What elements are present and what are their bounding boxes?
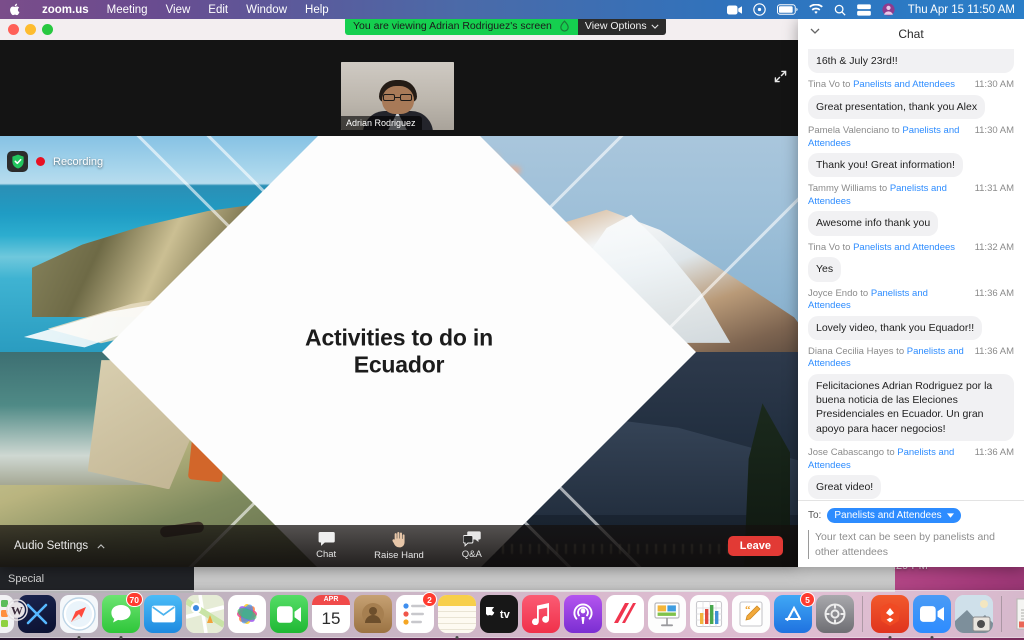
presentation-slide: Activities to do in Ecuador Recording [0, 136, 798, 567]
dock-item-system-preferences[interactable] [816, 595, 854, 633]
dock-item-safari[interactable] [60, 595, 98, 633]
chat-recipient-dropdown[interactable]: Panelists and Attendees [827, 508, 960, 523]
menu-item-help[interactable]: Help [296, 4, 338, 16]
menu-item-view[interactable]: View [157, 4, 200, 16]
chat-recipient-row: To: Panelists and Attendees [808, 508, 1014, 523]
dock-item-mail[interactable] [144, 595, 182, 633]
chat-bubble: Awesome info thank you [808, 211, 938, 235]
user-avatar-icon[interactable] [882, 3, 895, 16]
wordpress-logo-icon[interactable]: W [6, 599, 28, 626]
viewing-screen-banner: You are viewing Adrian Rodriguez's scree… [345, 17, 666, 35]
menu-item-meeting[interactable]: Meeting [98, 4, 157, 16]
chat-composer: To: Panelists and Attendees Your text ca… [798, 500, 1024, 567]
server-icon[interactable] [857, 4, 871, 16]
appstore-badge: 5 [800, 592, 815, 607]
toolbar-center-buttons: Chat Raise Hand Q&A [302, 531, 496, 561]
chat-sender: Joyce Endo to Panelists and Attendees [808, 288, 971, 313]
chat-bubble: Great presentation, thank you Alex [808, 95, 985, 119]
chat-sender: Tina Vo to Panelists and Attendees [808, 242, 971, 255]
chat-bubble: Felicitaciones Adrian Rodriguez por la b… [808, 374, 1014, 441]
qa-button-label: Q&A [462, 549, 482, 560]
dock-item-pages[interactable]: “ [732, 595, 770, 633]
chat-bubble: Thank you! Great information! [808, 153, 963, 177]
dock-item-appstore[interactable]: 5 [774, 595, 812, 633]
view-options-label: View Options [585, 20, 647, 32]
chat-message: Tina Vo to Panelists and Attendees 11:32… [808, 242, 1014, 282]
chat-timestamp: 11:36 AM [975, 288, 1014, 313]
app-running-indicator [120, 636, 123, 639]
chat-timestamp: 11:36 AM [975, 346, 1014, 371]
network-quality-icon[interactable] [559, 20, 570, 32]
app-running-indicator [931, 636, 934, 639]
chevron-down-icon[interactable] [810, 28, 820, 34]
chat-sender: Diana Cecilia Hayes to Panelists and Att… [808, 346, 971, 371]
close-button[interactable] [8, 24, 19, 35]
viewing-banner-text: You are viewing Adrian Rodriguez's scree… [353, 20, 552, 32]
special-window-title: Special [8, 573, 44, 585]
dock-item-numbers[interactable] [690, 595, 728, 633]
search-icon[interactable] [834, 4, 846, 16]
zoom-meeting-window: Adrian Rodriguez [0, 19, 798, 567]
menu-item-window[interactable]: Window [237, 4, 296, 16]
chat-message-meta: Tina Vo to Panelists and Attendees 11:30… [808, 79, 1014, 92]
screen-share-area: Adrian Rodriguez [0, 40, 798, 567]
chat-timestamp: 11:30 AM [975, 125, 1014, 150]
svg-text:tv: tv [500, 609, 511, 621]
recording-label: Recording [53, 156, 103, 168]
dock-item-keynote[interactable] [648, 595, 686, 633]
qa-bubbles-icon [463, 531, 481, 547]
menu-bar: zoom.us Meeting View Edit Window Help Th… [0, 0, 1024, 19]
app-running-indicator [78, 636, 81, 639]
participant-name-label: Adrian Rodriguez [341, 116, 422, 131]
chat-bubble: 16th & July 23rd!! [808, 49, 1014, 73]
minimize-button[interactable] [25, 24, 36, 35]
chat-sender: Jose Cabascango to Panelists and Attende… [808, 447, 971, 472]
dock-item-document[interactable] [1010, 595, 1024, 633]
chat-timestamp: 11:31 AM [975, 183, 1014, 208]
chat-message-list[interactable]: 16th & July 23rd!! Tina Vo to Panelists … [798, 49, 1024, 500]
qa-button[interactable]: Q&A [448, 531, 496, 561]
wifi-icon[interactable] [809, 4, 823, 15]
chat-message-meta: Jose Cabascango to Panelists and Attende… [808, 447, 1014, 472]
chat-timestamp: 11:36 AM [975, 447, 1014, 472]
raise-hand-button[interactable]: Raise Hand [374, 531, 424, 561]
chat-input[interactable]: Your text can be seen by panelists and o… [808, 530, 1014, 559]
recording-indicator: Recording [7, 151, 103, 172]
apple-logo-icon[interactable] [0, 3, 33, 16]
self-view-video-tile[interactable]: Adrian Rodriguez [341, 62, 454, 130]
maximize-button[interactable] [42, 24, 53, 35]
chat-bubble: Lovely video, thank you Equador!! [808, 316, 982, 340]
app-running-indicator [456, 636, 459, 639]
chat-message: Joyce Endo to Panelists and Attendees 11… [808, 288, 1014, 340]
chat-bubble: Great video! [808, 475, 881, 499]
dock-item-photos[interactable] [228, 595, 266, 633]
raised-hand-icon [391, 531, 407, 548]
dock-item-maps[interactable] [186, 595, 224, 633]
chat-panel-header: Chat [798, 19, 1024, 49]
dock-item-calendar[interactable]: APR 15 [312, 595, 350, 633]
chat-message-meta: Pamela Valenciano to Panelists and Atten… [808, 125, 1014, 150]
zoom-toolbar: Audio Settings Chat Raise Hand [0, 525, 798, 567]
chat-timestamp: 11:32 AM [975, 242, 1014, 255]
chat-bubble-icon [318, 531, 335, 547]
chat-message: Pamela Valenciano to Panelists and Atten… [808, 125, 1014, 177]
battery-icon[interactable] [777, 4, 798, 15]
chat-bubble: Yes [808, 257, 841, 281]
window-controls [0, 24, 53, 35]
menu-item-zoom-us[interactable]: zoom.us [33, 4, 98, 16]
chat-panel-title: Chat [898, 27, 923, 41]
dock-item-news[interactable] [606, 595, 644, 633]
chat-message: Diana Cecilia Hayes to Panelists and Att… [808, 346, 1014, 441]
dock: 70 [0, 590, 1024, 638]
dock-item-music[interactable] [522, 595, 560, 633]
dock-item-podcasts[interactable] [564, 595, 602, 633]
chevron-down-icon [947, 513, 954, 518]
chat-timestamp: 11:30 AM [975, 79, 1014, 92]
slide-title-line2: Ecuador [354, 352, 445, 378]
screen-record-icon[interactable] [727, 4, 742, 16]
dock-separator [1001, 596, 1002, 632]
audio-settings-label: Audio Settings [14, 540, 88, 552]
chat-sender: Pamela Valenciano to Panelists and Atten… [808, 125, 971, 150]
dock-item-brave[interactable] [871, 595, 909, 633]
messages-badge: 70 [126, 592, 143, 607]
recording-dot-icon [36, 157, 45, 166]
dock-item-preview[interactable] [955, 595, 993, 633]
background-gray-window[interactable] [194, 566, 895, 592]
slide-title-line1: Activities to do in [305, 324, 493, 350]
chat-panel: Chat 16th & July 23rd!! Tina Vo to Panel… [798, 19, 1024, 567]
chat-recipient-label: Panelists and Attendees [834, 510, 941, 521]
dock-item-facetime[interactable] [270, 595, 308, 633]
dock-item-appletv[interactable]: tv [480, 595, 518, 633]
svg-text:W: W [11, 604, 23, 618]
dock-separator [862, 596, 863, 632]
chat-message-meta: Tammy Williams to Panelists and Attendee… [808, 183, 1014, 208]
chat-message-meta: Diana Cecilia Hayes to Panelists and Att… [808, 346, 1014, 371]
dock-item-reminders[interactable]: 2 [396, 595, 434, 633]
dock-item-contacts[interactable] [354, 595, 392, 633]
menubar-clock[interactable]: Thu Apr 15 11:50 AM [906, 4, 1015, 16]
chat-message: Jose Cabascango to Panelists and Attende… [808, 447, 1014, 499]
chat-message: Tammy Williams to Panelists and Attendee… [808, 183, 1014, 235]
app-running-indicator [889, 636, 892, 639]
dock-item-zoom[interactable] [913, 595, 951, 633]
raise-hand-button-label: Raise Hand [374, 550, 424, 561]
dock-item-notes[interactable] [438, 595, 476, 633]
leave-button[interactable]: Leave [728, 536, 783, 556]
chat-to-label: To: [808, 510, 821, 521]
control-center-icon[interactable] [753, 3, 766, 16]
chat-message-meta: Joyce Endo to Panelists and Attendees 11… [808, 288, 1014, 313]
calendar-month: APR [312, 595, 350, 605]
viewing-banner-green: You are viewing Adrian Rodriguez's scree… [345, 17, 578, 35]
chat-message: Tina Vo to Panelists and Attendees 11:30… [808, 79, 1014, 119]
chat-sender: Tammy Williams to Panelists and Attendee… [808, 183, 971, 208]
chat-message-meta: Tina Vo to Panelists and Attendees 11:32… [808, 242, 1014, 255]
chevron-down-icon [651, 24, 659, 29]
chevron-up-icon[interactable] [97, 544, 105, 549]
dock-item-messages[interactable]: 70 [102, 595, 140, 633]
chat-message-clipped: 16th & July 23rd!! [808, 49, 1014, 73]
reminders-badge: 2 [422, 592, 437, 607]
audio-settings-button[interactable]: Audio Settings [0, 540, 105, 552]
view-options-button[interactable]: View Options [578, 17, 666, 35]
expand-arrows-icon[interactable] [770, 66, 790, 86]
slide-title: Activities to do in Ecuador [234, 324, 564, 379]
chat-button[interactable]: Chat [302, 531, 350, 561]
calendar-day: 15 [322, 605, 341, 633]
menu-item-edit[interactable]: Edit [199, 4, 237, 16]
chat-sender: Tina Vo to Panelists and Attendees [808, 79, 971, 92]
chat-button-label: Chat [316, 549, 336, 560]
shield-check-icon[interactable] [7, 151, 28, 172]
background-special-window[interactable]: Special [0, 565, 194, 593]
